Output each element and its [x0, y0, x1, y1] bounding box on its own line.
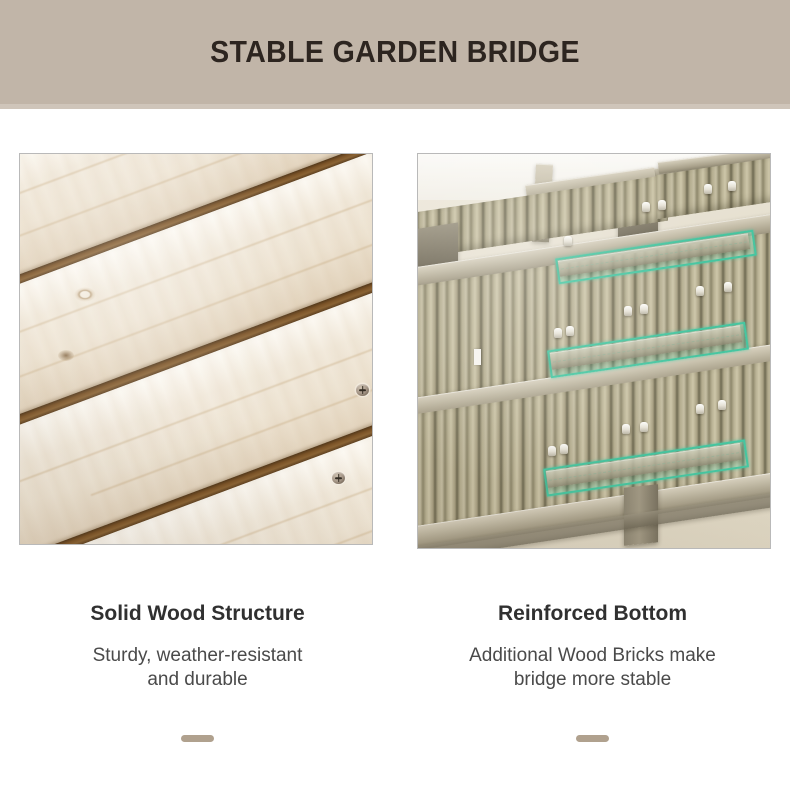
bolt	[696, 286, 704, 296]
bolt	[548, 446, 556, 456]
caption-subtitle-right-line2: bridge more stable	[514, 669, 671, 690]
caption-column-right: Reinforced Bottom Additional Wood Bricks…	[395, 600, 790, 692]
bolt	[704, 184, 712, 194]
divider-dash	[576, 735, 609, 742]
bolt	[640, 304, 648, 314]
bolt	[622, 424, 630, 434]
wood-knot	[58, 350, 74, 361]
caption-subtitle-left-line2: and durable	[147, 669, 247, 690]
dash-column-right	[395, 735, 790, 742]
label-tag	[474, 349, 481, 365]
bolt	[658, 200, 666, 210]
dash-column-left	[0, 735, 395, 742]
bolt	[566, 326, 574, 336]
caption-title-reinforced-bottom: Reinforced Bottom	[395, 600, 790, 628]
bolt	[728, 181, 736, 191]
caption-subtitle-right: Additional Wood Bricks make bridge more …	[395, 644, 790, 692]
bolt	[718, 400, 726, 410]
page-title: STABLE GARDEN BRIDGE	[32, 34, 759, 70]
panels-row	[0, 153, 790, 551]
photo-panel-solid-wood-structure[interactable]	[19, 153, 373, 545]
bolt	[696, 404, 704, 414]
divider-dash	[181, 735, 214, 742]
bolt	[564, 236, 572, 246]
bolt	[640, 422, 648, 432]
photo-panel-reinforced-bottom[interactable]	[417, 153, 771, 549]
bolt	[624, 306, 632, 316]
captions-row: Solid Wood Structure Sturdy, weather-res…	[0, 600, 790, 692]
caption-subtitle-left: Sturdy, weather-resistant and durable	[0, 644, 395, 692]
wood-knot	[74, 287, 96, 302]
deck-photo	[20, 154, 372, 544]
bolt	[554, 328, 562, 338]
decorative-dashes	[0, 735, 790, 742]
bolt	[724, 282, 732, 292]
caption-column-left: Solid Wood Structure Sturdy, weather-res…	[0, 600, 395, 692]
bolt	[642, 202, 650, 212]
caption-subtitle-left-line1: Sturdy, weather-resistant	[93, 645, 303, 666]
screw-head	[332, 472, 345, 484]
deck-plank-stack	[20, 154, 372, 544]
bolt	[560, 444, 568, 454]
header-band-edge	[0, 104, 790, 109]
caption-title-solid-wood-structure: Solid Wood Structure	[0, 600, 395, 628]
screw-head	[356, 384, 369, 396]
bridge-underside-photo	[418, 154, 770, 548]
caption-subtitle-right-line1: Additional Wood Bricks make	[469, 645, 716, 666]
